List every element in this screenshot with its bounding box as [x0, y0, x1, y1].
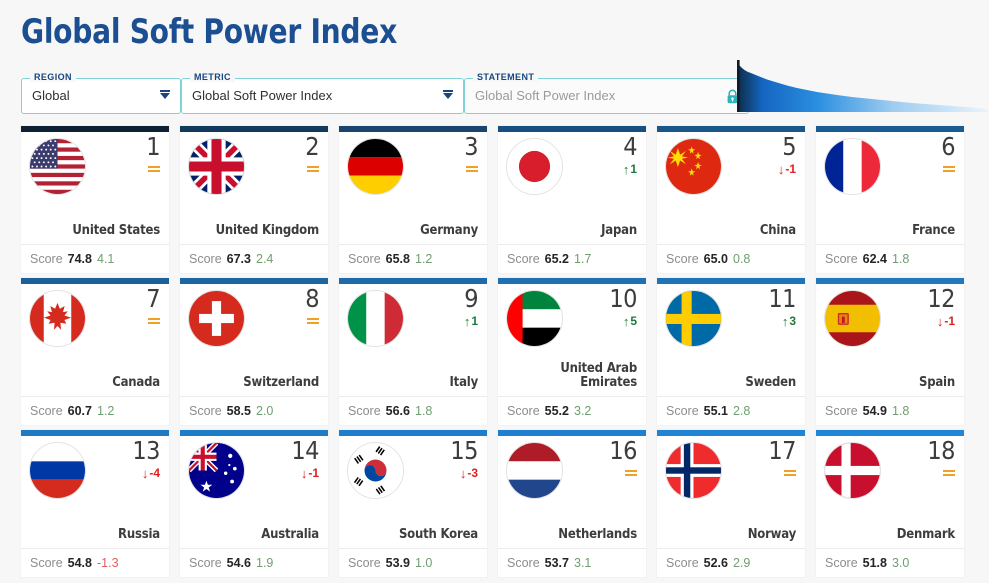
rank-down-indicator: ↓-1	[291, 466, 319, 480]
score-row: Score54.61.9	[180, 548, 328, 577]
country-name: Russia	[27, 528, 160, 542]
country-card-body: 13↓-4Russia	[21, 436, 169, 548]
score-delta: 1.2	[415, 252, 432, 266]
country-name: Netherlands	[504, 528, 637, 542]
score-delta: 1.8	[892, 252, 909, 266]
score-value: 54.9	[863, 404, 887, 418]
country-name: France	[822, 224, 955, 238]
rank-block: 9↑1	[464, 286, 478, 328]
country-card-body: 3Germany	[339, 132, 487, 244]
country-name: Sweden	[663, 376, 796, 390]
country-card-body: 15↓-3South Korea	[339, 436, 487, 548]
score-row: Score67.32.4	[180, 244, 328, 273]
score-value: 55.2	[545, 404, 569, 418]
rank-block: 18	[927, 438, 955, 480]
rank-unchanged-icon	[768, 466, 796, 480]
score-row: Score65.81.2	[339, 244, 487, 273]
country-card-body: 10↑5United Arab Emirates	[498, 284, 646, 396]
equals-icon	[148, 165, 160, 173]
statement-filter-label: STATEMENT	[473, 72, 538, 82]
score-value: 74.8	[68, 252, 92, 266]
flag-icon-ch	[188, 290, 245, 347]
score-row: Score54.8-1.3	[21, 548, 169, 577]
country-card[interactable]: 5↓-1ChinaScore65.00.8	[657, 126, 805, 273]
rank-change-value: -1	[944, 315, 955, 327]
country-card-body: 5↓-1China	[657, 132, 805, 244]
country-name: Norway	[663, 528, 796, 542]
arrow-down-icon: ↓	[937, 315, 944, 328]
score-label: Score	[30, 556, 63, 570]
rank-unchanged-icon	[609, 466, 637, 480]
country-card-body: 18Denmark	[816, 436, 964, 548]
score-row: Score65.00.8	[657, 244, 805, 273]
score-row: Score55.23.2	[498, 396, 646, 425]
score-delta: 3.1	[574, 556, 591, 570]
arrow-up-icon: ↑	[464, 315, 471, 328]
score-delta: 4.1	[97, 252, 114, 266]
arrow-down-icon: ↓	[460, 467, 467, 480]
country-card[interactable]: 1United StatesScore74.84.1	[21, 126, 169, 273]
rank-block: 10↑5	[609, 286, 637, 328]
country-name: United States	[27, 224, 160, 238]
score-row: Score60.71.2	[21, 396, 169, 425]
rank-block: 6	[941, 134, 955, 176]
rank-number: 2	[305, 134, 319, 159]
score-label: Score	[507, 252, 540, 266]
score-delta: 1.8	[892, 404, 909, 418]
country-card[interactable]: 6FranceScore62.41.8	[816, 126, 964, 273]
flag-icon-us	[29, 138, 86, 195]
rank-down-indicator: ↓-1	[927, 314, 955, 328]
score-delta: 1.2	[97, 404, 114, 418]
score-delta: 1.0	[415, 556, 432, 570]
rank-number: 1	[146, 134, 160, 159]
rank-number: 7	[146, 286, 160, 311]
score-value: 62.4	[863, 252, 887, 266]
score-delta: 2.8	[733, 404, 750, 418]
score-value: 54.6	[227, 556, 251, 570]
score-row: Score56.61.8	[339, 396, 487, 425]
rank-change-value: 1	[471, 315, 478, 327]
score-label: Score	[825, 556, 858, 570]
rank-down-indicator: ↓-3	[450, 466, 478, 480]
score-row: Score53.91.0	[339, 548, 487, 577]
rank-unchanged-icon	[305, 162, 319, 176]
rank-unchanged-icon	[146, 314, 160, 328]
score-label: Score	[825, 252, 858, 266]
rank-block: 1	[146, 134, 160, 176]
country-card[interactable]: 17NorwayScore52.62.9	[657, 430, 805, 577]
statement-filter: STATEMENT Global Soft Power Index	[464, 78, 749, 114]
rank-number: 10	[609, 286, 637, 311]
country-card-body: 4↑1Japan	[498, 132, 646, 244]
score-label: Score	[507, 556, 540, 570]
score-value: 53.9	[386, 556, 410, 570]
flag-icon-jp	[506, 138, 563, 195]
country-name: Germany	[345, 224, 478, 238]
score-value: 58.5	[227, 404, 251, 418]
country-card[interactable]: 3GermanyScore65.81.2	[339, 126, 487, 273]
rank-number: 16	[609, 438, 637, 463]
arrow-down-icon: ↓	[301, 467, 308, 480]
score-row: Score55.12.8	[657, 396, 805, 425]
score-value: 65.2	[545, 252, 569, 266]
rank-change-value: -1	[308, 467, 319, 479]
score-row: Score74.84.1	[21, 244, 169, 273]
equals-icon	[307, 165, 319, 173]
score-delta: 1.9	[256, 556, 273, 570]
rank-unchanged-icon	[464, 162, 478, 176]
rank-block: 4↑1	[623, 134, 637, 176]
rank-number: 14	[291, 438, 319, 463]
country-card-body: 2United Kingdom	[180, 132, 328, 244]
country-card-body: 17Norway	[657, 436, 805, 548]
rank-block: 7	[146, 286, 160, 328]
score-label: Score	[30, 252, 63, 266]
flag-icon-dk	[824, 442, 881, 499]
rank-up-indicator: ↑1	[623, 162, 637, 176]
rank-number: 9	[464, 286, 478, 311]
score-label: Score	[666, 252, 699, 266]
arrow-up-icon: ↑	[623, 315, 630, 328]
country-name: China	[663, 224, 796, 238]
rank-number: 6	[941, 134, 955, 159]
statement-filter-value: Global Soft Power Index	[475, 88, 615, 103]
country-name: Spain	[822, 376, 955, 390]
rank-number: 8	[305, 286, 319, 311]
region-filter-value: Global	[32, 88, 70, 103]
equals-icon	[943, 165, 955, 173]
country-name: South Korea	[345, 528, 478, 542]
score-delta: 2.4	[256, 252, 273, 266]
rank-number: 12	[927, 286, 955, 311]
score-value: 53.7	[545, 556, 569, 570]
flag-icon-ca	[29, 290, 86, 347]
arrow-down-icon: ↓	[142, 467, 149, 480]
country-name: Australia	[186, 528, 319, 542]
country-card-body: 12↓-1Spain	[816, 284, 964, 396]
score-value: 55.1	[704, 404, 728, 418]
country-card[interactable]: 14↓-1AustraliaScore54.61.9	[180, 430, 328, 577]
rank-number: 18	[927, 438, 955, 463]
score-delta: 2.9	[733, 556, 750, 570]
country-name: Switzerland	[186, 376, 319, 390]
score-row: Score53.73.1	[498, 548, 646, 577]
equals-icon	[625, 469, 637, 477]
country-card[interactable]: 16NetherlandsScore53.73.1	[498, 430, 646, 577]
flag-icon-ae	[506, 290, 563, 347]
score-delta: 0.8	[733, 252, 750, 266]
rank-block: 15↓-3	[450, 438, 478, 480]
rank-block: 12↓-1	[927, 286, 955, 328]
country-card-body: 7Canada	[21, 284, 169, 396]
country-card-body: 16Netherlands	[498, 436, 646, 548]
rank-block: 3	[464, 134, 478, 176]
flag-icon-it	[347, 290, 404, 347]
country-card[interactable]: 7CanadaScore60.71.2	[21, 278, 169, 425]
score-label: Score	[666, 556, 699, 570]
rank-block: 5↓-1	[778, 134, 796, 176]
rank-number: 17	[768, 438, 796, 463]
arrow-up-icon: ↑	[623, 163, 630, 176]
score-row: Score58.52.0	[180, 396, 328, 425]
region-filter-label: REGION	[30, 72, 76, 82]
arrow-down-icon: ↓	[778, 163, 785, 176]
rank-block: 8	[305, 286, 319, 328]
dashboard-header: Global Soft Power Index REGION Global ME…	[0, 0, 989, 118]
rank-block: 11↑3	[768, 286, 796, 328]
country-card[interactable]: 11↑3SwedenScore55.12.8	[657, 278, 805, 425]
score-row: Score62.41.8	[816, 244, 964, 273]
flag-icon-no	[665, 442, 722, 499]
country-name: Canada	[27, 376, 160, 390]
rank-unchanged-icon	[927, 466, 955, 480]
rank-number: 15	[450, 438, 478, 463]
score-value: 65.0	[704, 252, 728, 266]
score-value: 51.8	[863, 556, 887, 570]
rank-block: 17	[768, 438, 796, 480]
country-card[interactable]: 2United KingdomScore67.32.4	[180, 126, 328, 273]
country-card-body: 1United States	[21, 132, 169, 244]
flag-icon-gb	[188, 138, 245, 195]
score-row: Score52.62.9	[657, 548, 805, 577]
equals-icon	[307, 317, 319, 325]
score-delta: 1.7	[574, 252, 591, 266]
rank-change-value: -4	[149, 467, 160, 479]
score-label: Score	[348, 556, 381, 570]
country-card[interactable]: 13↓-4RussiaScore54.8-1.3	[21, 430, 169, 577]
equals-icon	[943, 469, 955, 477]
country-card[interactable]: 10↑5United Arab EmiratesScore55.23.2	[498, 278, 646, 425]
score-value: 60.7	[68, 404, 92, 418]
country-card[interactable]: 18DenmarkScore51.83.0	[816, 430, 964, 577]
country-name: United Kingdom	[186, 224, 319, 238]
rank-number: 4	[623, 134, 637, 159]
region-filter[interactable]: REGION Global	[21, 78, 181, 114]
flag-icon-fr	[824, 138, 881, 195]
flag-icon-au	[188, 442, 245, 499]
score-label: Score	[30, 404, 63, 418]
rank-number: 11	[768, 286, 796, 311]
rank-up-indicator: ↑3	[768, 314, 796, 328]
score-delta: 3.2	[574, 404, 591, 418]
country-card[interactable]: 9↑1ItalyScore56.61.8	[339, 278, 487, 425]
flag-icon-se	[665, 290, 722, 347]
score-value: 65.8	[386, 252, 410, 266]
score-label: Score	[825, 404, 858, 418]
country-card-body: 6France	[816, 132, 964, 244]
rank-change-value: -1	[785, 163, 796, 175]
score-label: Score	[507, 404, 540, 418]
score-label: Score	[189, 556, 222, 570]
score-label: Score	[666, 404, 699, 418]
equals-icon	[466, 165, 478, 173]
score-label: Score	[348, 404, 381, 418]
arrow-up-icon: ↑	[782, 315, 789, 328]
score-delta: 3.0	[892, 556, 909, 570]
country-card[interactable]: 15↓-3South KoreaScore53.91.0	[339, 430, 487, 577]
score-label: Score	[189, 252, 222, 266]
rank-down-indicator: ↓-4	[132, 466, 160, 480]
rank-down-indicator: ↓-1	[778, 162, 796, 176]
country-name: Denmark	[822, 528, 955, 542]
rank-up-indicator: ↑1	[464, 314, 478, 328]
country-name: United Arab Emirates	[504, 362, 637, 390]
score-delta: 2.0	[256, 404, 273, 418]
rank-change-value: 1	[630, 163, 637, 175]
rank-block: 2	[305, 134, 319, 176]
page-title: Global Soft Power Index	[21, 12, 397, 52]
score-row: Score65.21.7	[498, 244, 646, 273]
country-card-body: 8Switzerland	[180, 284, 328, 396]
country-card-body: 14↓-1Australia	[180, 436, 328, 548]
rank-block: 13↓-4	[132, 438, 160, 480]
country-name: Japan	[504, 224, 637, 238]
rank-unchanged-icon	[941, 162, 955, 176]
score-label: Score	[189, 404, 222, 418]
equals-icon	[784, 469, 796, 477]
rank-number: 5	[778, 134, 796, 159]
score-label: Score	[348, 252, 381, 266]
score-delta: 1.8	[415, 404, 432, 418]
score-distribution-chart	[735, 60, 989, 112]
score-row: Score51.83.0	[816, 548, 964, 577]
flag-icon-ru	[29, 442, 86, 499]
country-card-body: 9↑1Italy	[339, 284, 487, 396]
chevron-down-icon[interactable]	[443, 93, 453, 99]
score-row: Score54.91.8	[816, 396, 964, 425]
flag-icon-de	[347, 138, 404, 195]
rank-up-indicator: ↑5	[609, 314, 637, 328]
metric-filter-label: METRIC	[190, 72, 235, 82]
rank-unchanged-icon	[305, 314, 319, 328]
country-card[interactable]: 12↓-1SpainScore54.91.8	[816, 278, 964, 425]
flag-icon-kr	[347, 442, 404, 499]
metric-filter[interactable]: METRIC Global Soft Power Index	[181, 78, 464, 114]
rank-number: 13	[132, 438, 160, 463]
rank-block: 14↓-1	[291, 438, 319, 480]
flag-icon-nl	[506, 442, 563, 499]
rank-change-value: 3	[789, 315, 796, 327]
rank-number: 3	[464, 134, 478, 159]
country-card[interactable]: 4↑1JapanScore65.21.7	[498, 126, 646, 273]
score-value: 67.3	[227, 252, 251, 266]
rank-block: 16	[609, 438, 637, 480]
country-card[interactable]: 8SwitzerlandScore58.52.0	[180, 278, 328, 425]
score-value: 52.6	[704, 556, 728, 570]
score-delta: -1.3	[97, 556, 119, 570]
rank-change-value: -3	[467, 467, 478, 479]
chevron-down-icon[interactable]	[160, 93, 170, 99]
metric-filter-value: Global Soft Power Index	[192, 88, 332, 103]
score-value: 54.8	[68, 556, 92, 570]
flag-icon-es	[824, 290, 881, 347]
country-ranking-grid: 1United StatesScore74.84.1 2United Kingd…	[21, 126, 968, 577]
score-value: 56.6	[386, 404, 410, 418]
rank-change-value: 5	[630, 315, 637, 327]
country-card-body: 11↑3Sweden	[657, 284, 805, 396]
rank-unchanged-icon	[146, 162, 160, 176]
equals-icon	[148, 317, 160, 325]
flag-icon-cn	[665, 138, 722, 195]
country-name: Italy	[345, 376, 478, 390]
